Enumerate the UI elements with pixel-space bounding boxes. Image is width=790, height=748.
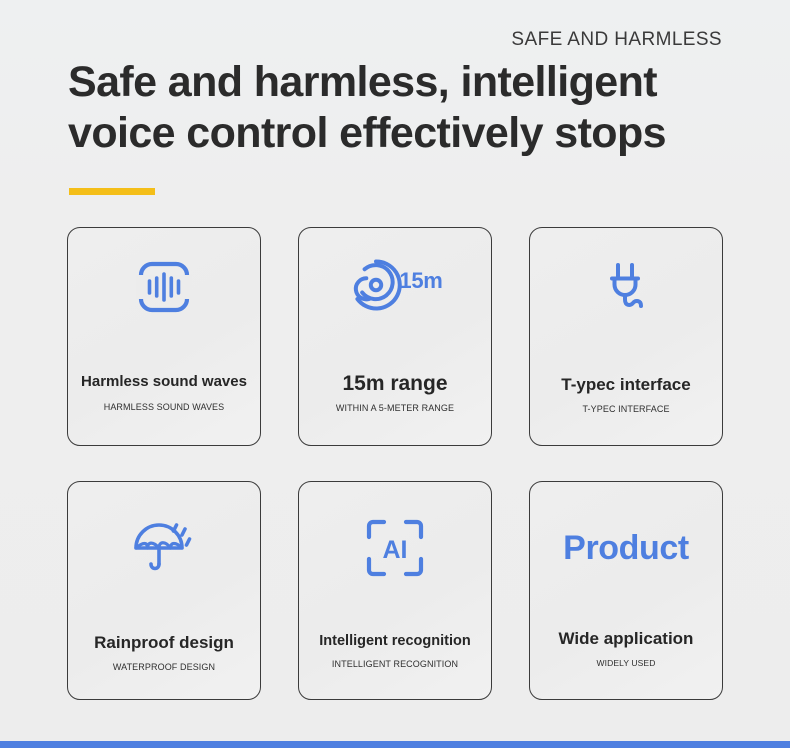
feature-card-rainproof-design[interactable]: Rainproof design WATERPROOF DESIGN <box>67 481 261 700</box>
feature-card-harmless-sound-waves[interactable]: Harmless sound waves HARMLESS SOUND WAVE… <box>67 227 261 446</box>
bottom-accent-strip <box>0 741 790 748</box>
feature-card-intelligent-recognition[interactable]: AI Intelligent recognition INTELLIGENT R… <box>298 481 492 700</box>
headline-line-1: Safe and harmless, intelligent <box>68 57 748 108</box>
card-title: Wide application <box>559 630 694 649</box>
page-title: Safe and harmless, intelligent voice con… <box>68 57 748 159</box>
radar-range-icon <box>347 256 405 319</box>
feature-card-grid: Harmless sound waves HARMLESS SOUND WAVE… <box>67 227 724 700</box>
power-plug-icon <box>530 228 722 346</box>
card-subtitle: INTELLIGENT RECOGNITION <box>332 659 458 669</box>
card-subtitle: T-YPEC INTERFACE <box>582 404 669 414</box>
sound-wave-icon <box>68 228 260 346</box>
product-wordmark: Product <box>563 531 689 565</box>
ai-scan-frame-icon: AI <box>299 482 491 614</box>
feature-card-15m-range[interactable]: 15m 15m range WITHIN A 5-METER RANGE <box>298 227 492 446</box>
card-title: Harmless sound waves <box>81 374 247 391</box>
umbrella-rain-icon <box>68 482 260 614</box>
accent-underline-bar <box>69 188 155 195</box>
card-title: 15m range <box>342 372 447 395</box>
feature-card-wide-application[interactable]: Product Wide application WIDELY USED <box>529 481 723 700</box>
eyebrow-text: SAFE AND HARMLESS <box>511 29 722 51</box>
card-title: T-ypec interface <box>561 376 690 395</box>
product-wordmark-area: Product <box>530 482 722 614</box>
card-subtitle: HARMLESS SOUND WAVES <box>104 402 225 412</box>
card-subtitle: WITHIN A 5-METER RANGE <box>336 403 454 413</box>
poster-page: SAFE AND HARMLESS Safe and harmless, int… <box>0 0 790 748</box>
range-icon-group: 15m <box>299 228 491 346</box>
range-badge-label: 15m <box>399 268 442 294</box>
feature-card-typec-interface[interactable]: T-ypec interface T-YPEC INTERFACE <box>529 227 723 446</box>
card-subtitle: WIDELY USED <box>597 658 656 668</box>
headline-line-2: voice control effectively stops <box>68 108 748 159</box>
card-subtitle: WATERPROOF DESIGN <box>113 662 215 672</box>
card-title: Rainproof design <box>94 634 234 653</box>
card-title: Intelligent recognition <box>319 634 470 650</box>
svg-text:AI: AI <box>383 536 408 564</box>
